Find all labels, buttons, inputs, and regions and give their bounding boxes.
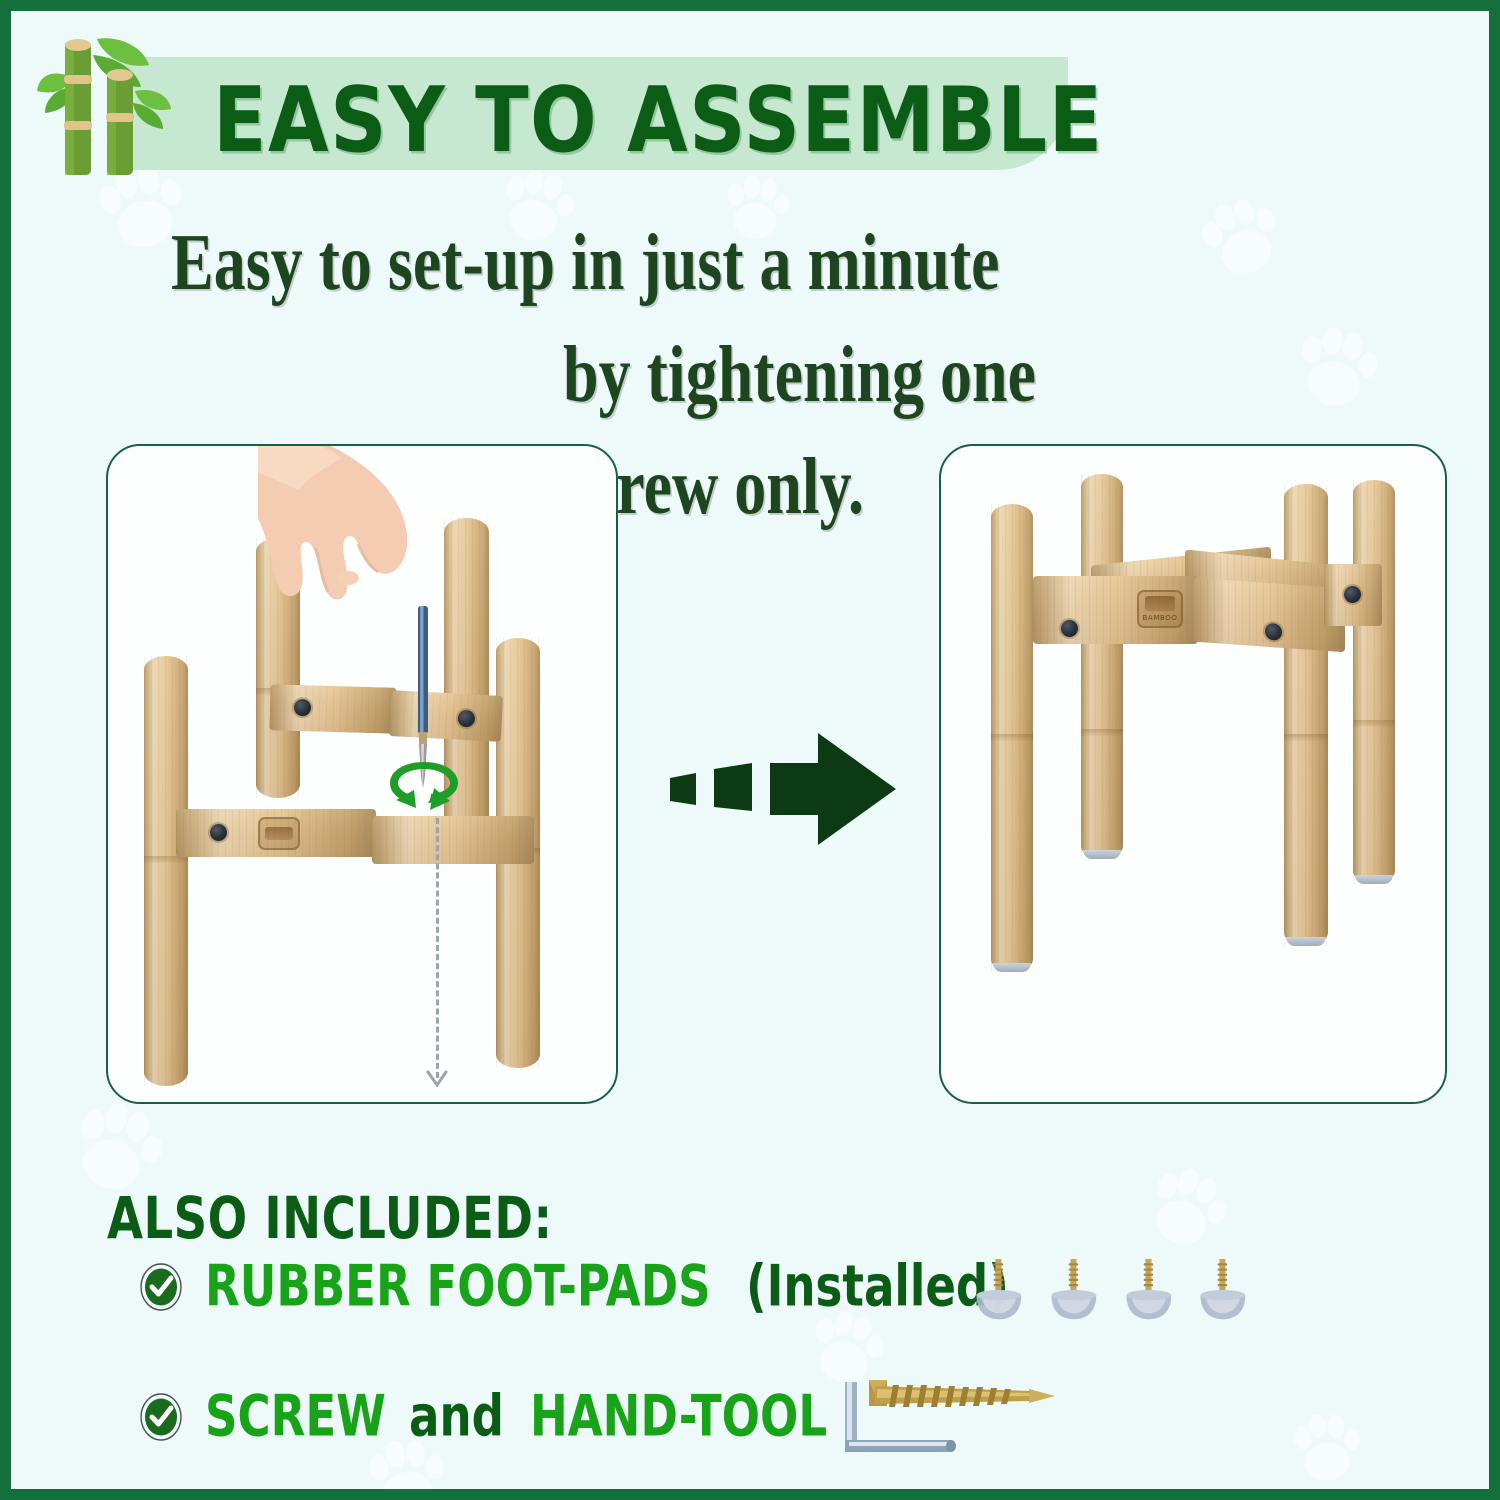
allen-key-and-screw-icon bbox=[831, 1374, 1101, 1489]
disassembled-stand-panel bbox=[106, 444, 618, 1104]
stand-rail bbox=[176, 809, 376, 857]
paw-print-watermark bbox=[1127, 1148, 1244, 1268]
alignment-arrow-tip bbox=[426, 1070, 448, 1088]
list-item: RUBBER FOOT-PADS (Installed) bbox=[139, 1259, 1020, 1314]
four-rubber-foot-pads-icon bbox=[973, 1254, 1249, 1326]
paw-print-watermark bbox=[1282, 313, 1389, 425]
assembled-stand-panel: BAMBOO bbox=[939, 444, 1447, 1104]
stand-front-rail: BAMBOO bbox=[1033, 576, 1198, 644]
screw-label: SCREW bbox=[205, 1383, 386, 1450]
header-banner: EASY TO ASSEMBLE bbox=[108, 57, 1068, 170]
rubber-foot-pads-label: RUBBER FOOT-PADS bbox=[205, 1253, 711, 1320]
bamboo-stalks-icon bbox=[37, 25, 187, 185]
also-included-title: ALSO INCLUDED: bbox=[107, 1185, 553, 1252]
stand-front-rail bbox=[1324, 564, 1382, 626]
paw-print-watermark bbox=[1282, 1402, 1370, 1489]
stand-front-rail bbox=[1193, 578, 1345, 653]
wood-screw-icon bbox=[869, 1380, 1055, 1407]
rail-screw bbox=[1265, 623, 1282, 641]
rail-screw bbox=[1344, 586, 1361, 603]
page-title: EASY TO ASSEMBLE bbox=[213, 66, 1056, 176]
rubber-foot-pads-note: (Installed) bbox=[746, 1253, 1009, 1320]
stand-leg bbox=[1081, 474, 1123, 859]
rail-screw bbox=[210, 824, 227, 841]
dashed-alignment-line bbox=[436, 818, 439, 1078]
conjunction-label: and bbox=[409, 1383, 504, 1450]
right-arrow-icon bbox=[666, 723, 916, 853]
stand-leg bbox=[1284, 484, 1328, 946]
list-item: SCREW and HAND-TOOL bbox=[139, 1389, 840, 1444]
subtitle-line-1: Easy to set-up in just a minute bbox=[131, 207, 1139, 319]
hand-tool-label: HAND-TOOL bbox=[530, 1383, 827, 1450]
rotate-clockwise-icon bbox=[384, 756, 464, 818]
brand-label bbox=[258, 817, 300, 850]
stand-leg bbox=[991, 504, 1033, 972]
stand-leg bbox=[1353, 480, 1395, 884]
stand-rail bbox=[372, 816, 534, 864]
check-circle-icon bbox=[139, 1392, 183, 1442]
hand-holding-tool-icon bbox=[258, 444, 488, 762]
stand-leg bbox=[144, 656, 188, 1086]
brand-label: BAMBOO bbox=[1137, 590, 1183, 628]
rail-screw bbox=[1061, 620, 1078, 637]
check-circle-icon bbox=[139, 1262, 183, 1312]
page-frame: EASY TO ASSEMBLE bbox=[11, 11, 1489, 1489]
paw-print-watermark bbox=[1181, 178, 1300, 300]
